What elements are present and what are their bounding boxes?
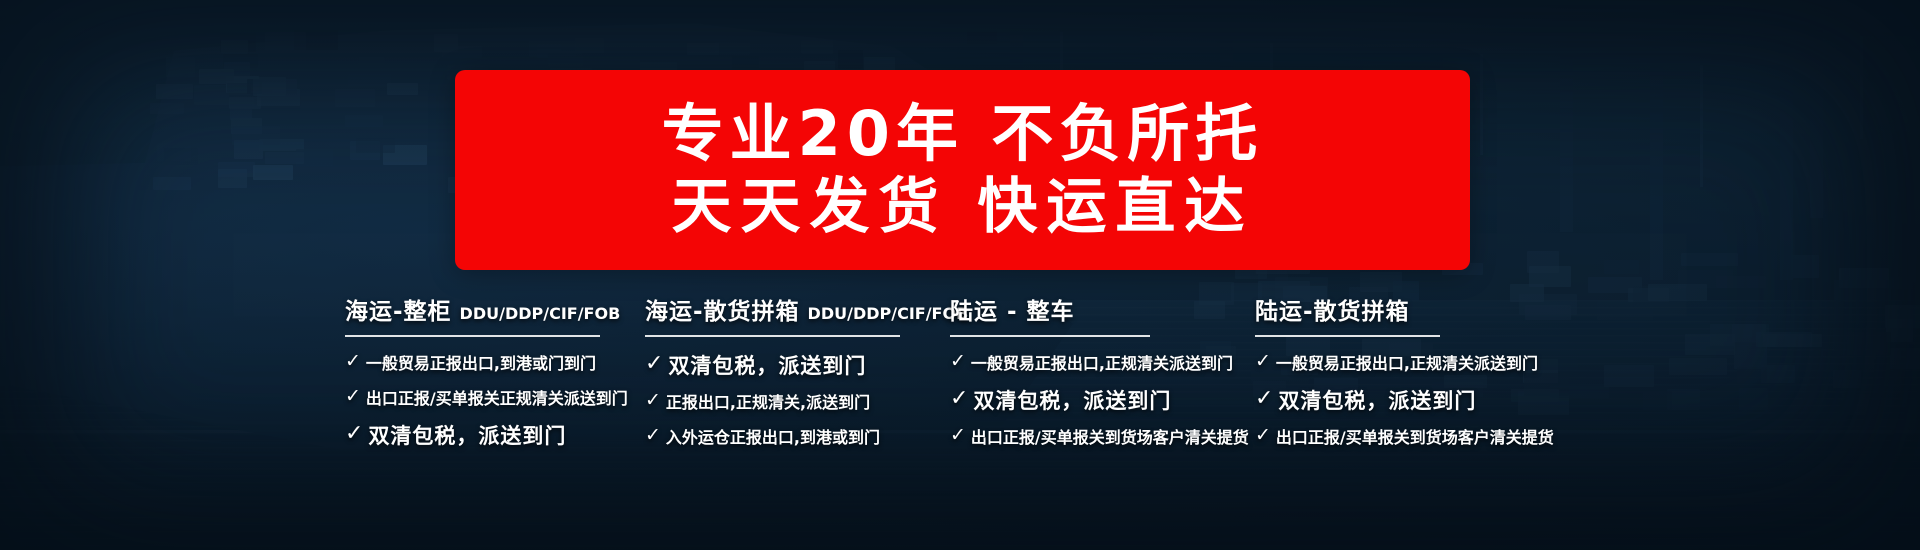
column-divider: [345, 335, 600, 337]
feature-text: 双清包税，派送到门: [1278, 385, 1476, 415]
check-mark-icon: ✓: [1255, 352, 1271, 371]
check-mark-icon: ✓: [645, 391, 661, 410]
banner-stage: 专业20年 不负所托 天天发货 快运直达 海运-整柜 DDU/DDP/CIF/F…: [0, 0, 1920, 550]
feature-text: 出口正报/买单报关到货场客户清关提货: [971, 424, 1249, 448]
column-title: 海运-整柜: [345, 292, 452, 326]
feature-text: 入外运仓正报出口,到港或到门: [666, 424, 880, 448]
promo-banner: 专业20年 不负所托 天天发货 快运直达: [455, 70, 1470, 270]
service-column-land-ftl: 陆运 - 整车 ✓ 一般贸易正报出口,正规清关派送到门 ✓ 双清包税，派送到门 …: [950, 292, 1255, 459]
feature-item: ✓ 入外运仓正报出口,到港或到门: [645, 424, 950, 448]
feature-item: ✓ 出口正报/买单报关到货场客户清关提货: [1255, 424, 1585, 448]
feature-item: ✓ 出口正报/买单报关到货场客户清关提货: [950, 424, 1255, 448]
feature-text: 双清包税，派送到门: [973, 385, 1171, 415]
service-column-sea-lcl: 海运-散货拼箱 DDU/DDP/CIF/FOB ✓ 双清包税，派送到门 ✓ 正报…: [645, 292, 950, 459]
feature-item: ✓ 一般贸易正报出口,到港或门到门: [345, 350, 645, 374]
service-column-land-lcl: 陆运-散货拼箱 ✓ 一般贸易正报出口,正规清关派送到门 ✓ 双清包税，派送到门 …: [1255, 292, 1585, 459]
feature-item: ✓ 正报出口,正规清关,派送到门: [645, 389, 950, 413]
feature-item: ✓ 一般贸易正报出口,正规清关派送到门: [1255, 350, 1585, 374]
feature-text: 一般贸易正报出口,到港或门到门: [366, 350, 596, 374]
feature-item: ✓ 出口正报/买单报关正规清关派送到门: [345, 385, 645, 409]
column-title: 陆运-散货拼箱: [1255, 292, 1410, 326]
service-columns: 海运-整柜 DDU/DDP/CIF/FOB ✓ 一般贸易正报出口,到港或门到门 …: [345, 292, 1905, 522]
feature-item-highlight: ✓ 双清包税，派送到门: [1255, 385, 1585, 415]
feature-item-highlight: ✓ 双清包税，派送到门: [950, 385, 1255, 415]
column-title: 海运-散货拼箱: [645, 292, 800, 326]
check-mark-icon: ✓: [645, 353, 663, 375]
check-mark-icon: ✓: [1255, 426, 1271, 445]
column-header: 陆运-散货拼箱: [1255, 292, 1585, 335]
column-divider: [950, 335, 1150, 337]
feature-item: ✓ 一般贸易正报出口,正规清关派送到门: [950, 350, 1255, 374]
feature-text: 一般贸易正报出口,正规清关派送到门: [1276, 350, 1538, 374]
column-divider: [645, 335, 900, 337]
column-title: 陆运 - 整车: [950, 292, 1075, 326]
check-mark-icon: ✓: [345, 387, 361, 406]
feature-text: 出口正报/买单报关到货场客户清关提货: [1276, 424, 1554, 448]
column-header: 陆运 - 整车: [950, 292, 1255, 335]
feature-text: 一般贸易正报出口,正规清关派送到门: [971, 350, 1233, 374]
check-mark-icon: ✓: [345, 352, 361, 371]
column-divider: [1255, 335, 1440, 337]
check-mark-icon: ✓: [950, 352, 966, 371]
feature-text: 双清包税，派送到门: [668, 350, 866, 380]
promo-headline-line-1: 专业20年 不负所托: [662, 101, 1264, 166]
check-mark-icon: ✓: [345, 423, 363, 445]
column-header: 海运-整柜 DDU/DDP/CIF/FOB: [345, 292, 645, 335]
feature-text: 双清包税，派送到门: [368, 420, 566, 450]
feature-text: 正报出口,正规清关,派送到门: [666, 389, 870, 413]
column-header: 海运-散货拼箱 DDU/DDP/CIF/FOB: [645, 292, 950, 335]
check-mark-icon: ✓: [645, 426, 661, 445]
column-subtitle: DDU/DDP/CIF/FOB: [460, 304, 621, 323]
check-mark-icon: ✓: [1255, 388, 1273, 410]
check-mark-icon: ✓: [950, 388, 968, 410]
column-subtitle: DDU/DDP/CIF/FOB: [808, 304, 969, 323]
service-column-sea-fcl: 海运-整柜 DDU/DDP/CIF/FOB ✓ 一般贸易正报出口,到港或门到门 …: [345, 292, 645, 459]
feature-item-highlight: ✓ 双清包税，派送到门: [645, 350, 950, 380]
promo-headline-line-2: 天天发货 快运直达: [672, 176, 1254, 239]
feature-text: 出口正报/买单报关正规清关派送到门: [366, 385, 628, 409]
check-mark-icon: ✓: [950, 426, 966, 445]
feature-item-highlight: ✓ 双清包税，派送到门: [345, 420, 645, 450]
